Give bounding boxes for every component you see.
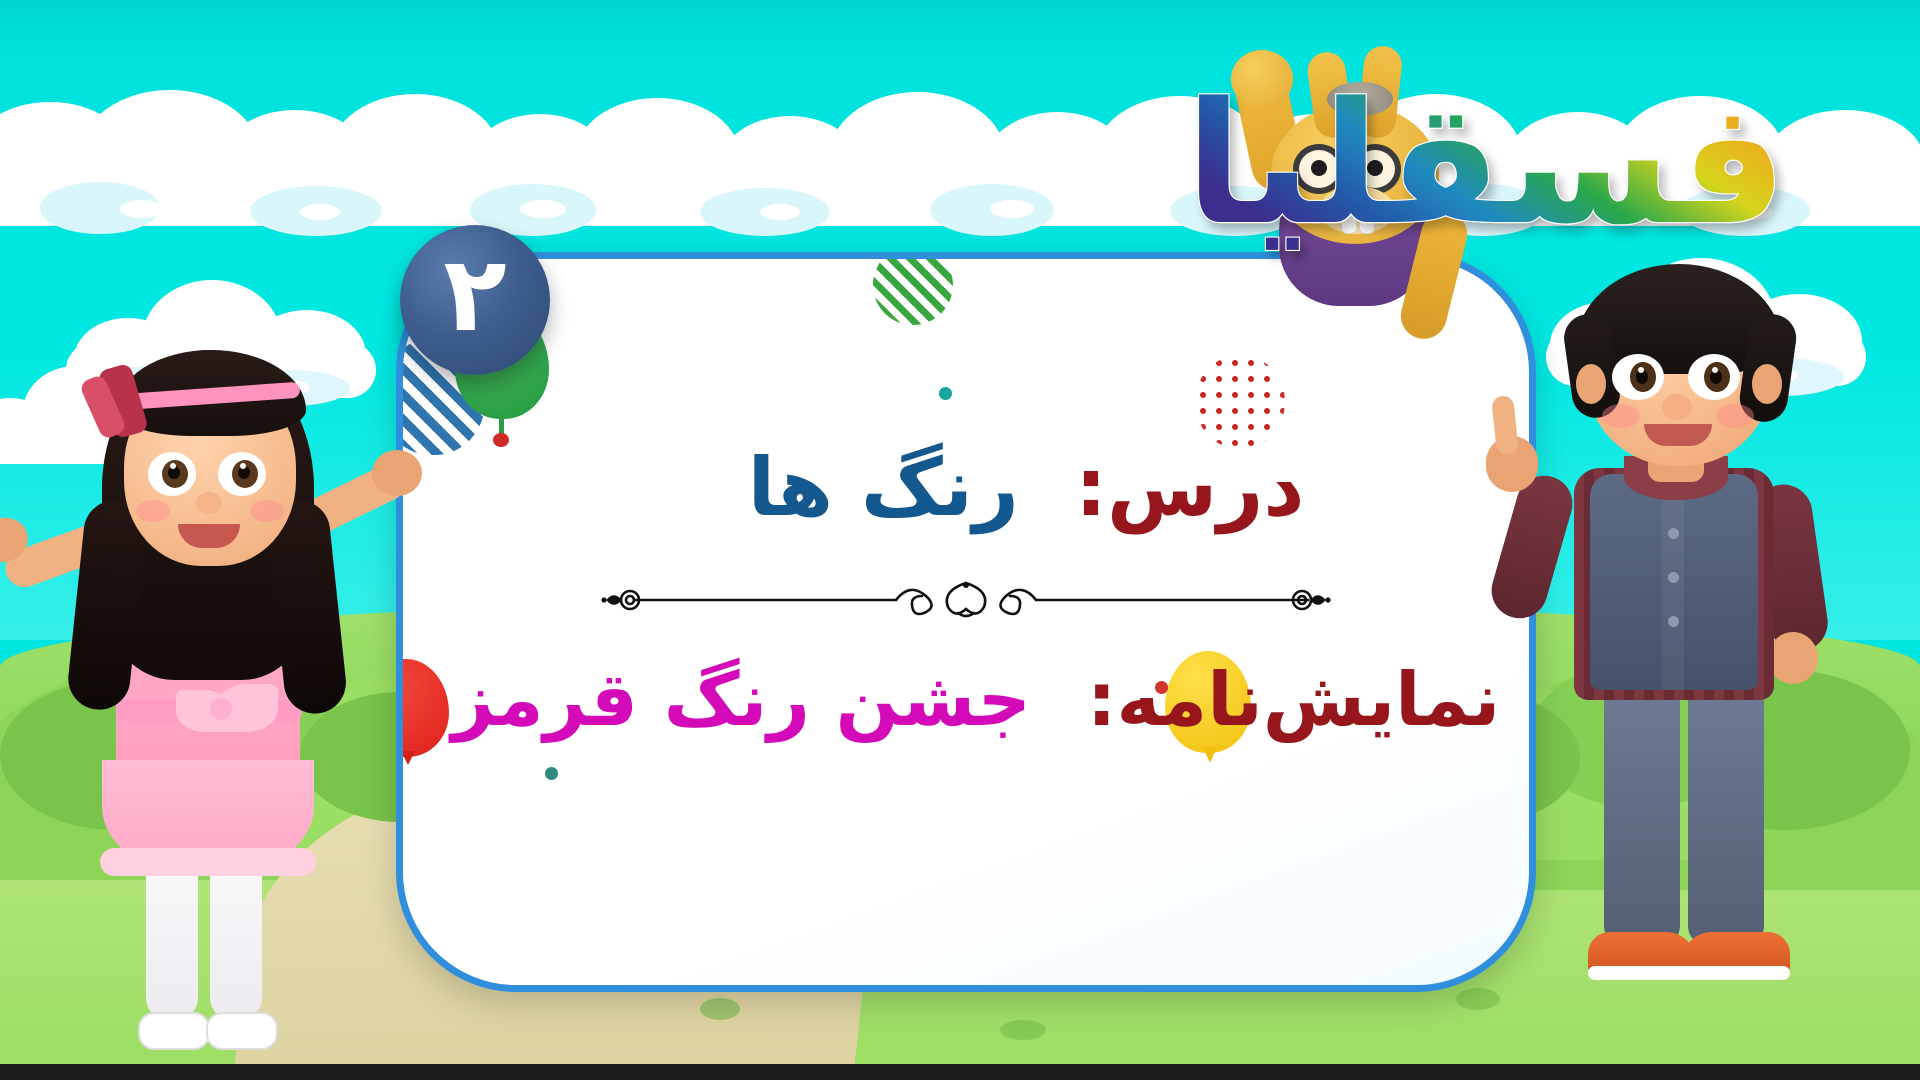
grass-tuft-1 [700,998,740,1020]
lesson-number-badge: ۲ [400,225,550,375]
play-value: جشن رنگ قرمز [452,657,1031,743]
ornamental-divider [596,577,1336,623]
rabbit-puppet [1215,60,1545,380]
lesson-number: ۲ [443,242,506,346]
bottom-letterbox-bar [0,1064,1920,1080]
boy-character [1520,260,1860,1020]
grass-tuft-2 [1000,1020,1046,1040]
lesson-value: رنگ ها [748,441,1019,534]
lesson-label: درس: [1075,441,1305,534]
grass-tuft-3 [1456,988,1500,1010]
lesson-row: درس: رنگ ها [403,441,1529,534]
sky-top-band [0,0,1920,60]
play-label: نمایش‌نامه: [1087,657,1500,743]
girl-character [20,200,390,1080]
play-row: نمایش‌نامه: جشن رنگ قرمز [403,657,1529,743]
